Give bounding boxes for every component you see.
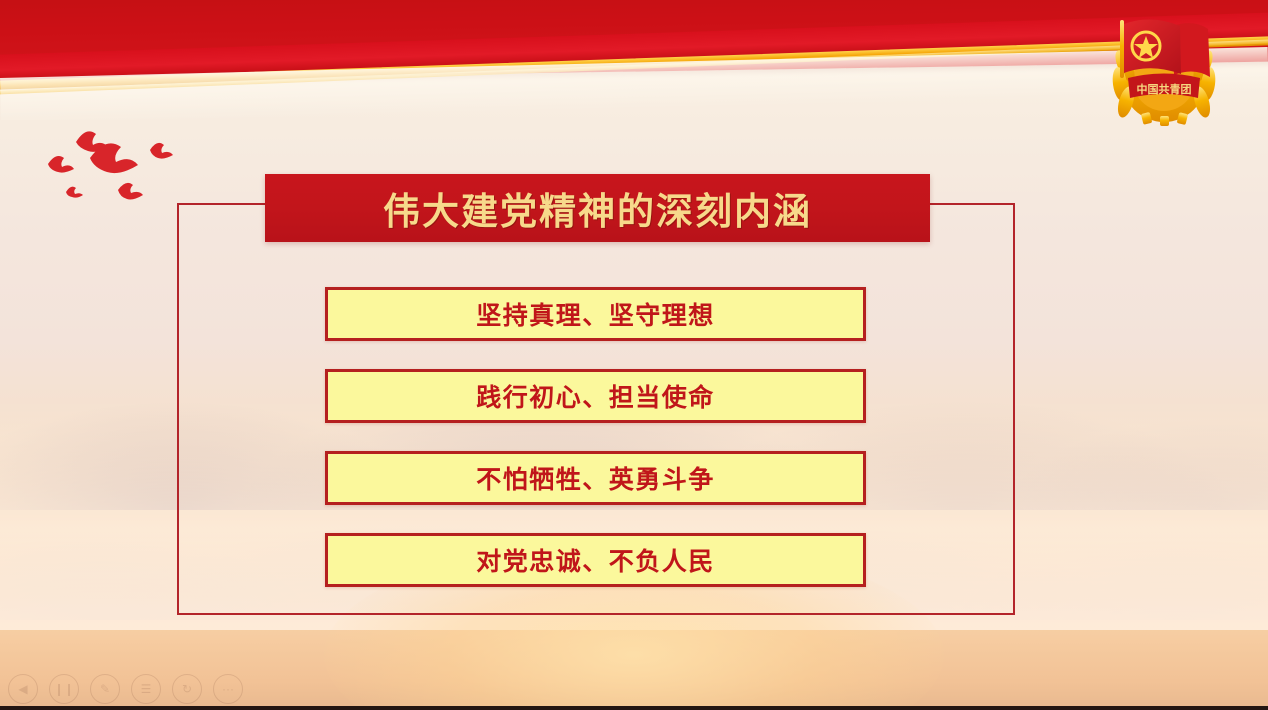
content-item-list: 坚持真理、坚守理想 践行初心、担当使命 不怕牺牲、英勇斗争 对党忠诚、不负人民 (325, 287, 866, 587)
previous-icon[interactable]: ◀ (8, 674, 38, 704)
watermark-player-controls: ◀ ❙❙ ✎ ☰ ↻ ··· (8, 674, 243, 704)
content-item-text: 对党忠诚、不负人民 (476, 542, 715, 578)
content-item-text: 坚持真理、坚守理想 (476, 296, 715, 332)
pen-icon[interactable]: ✎ (90, 674, 120, 704)
content-item-box[interactable]: 对党忠诚、不负人民 (325, 533, 866, 587)
refresh-icon[interactable]: ↻ (172, 674, 202, 704)
menu-icon[interactable]: ☰ (131, 674, 161, 704)
content-item-box[interactable]: 践行初心、担当使命 (325, 369, 866, 423)
pause-icon[interactable]: ❙❙ (49, 674, 79, 704)
communist-youth-league-emblem: 中国共青团 (1098, 6, 1230, 128)
slide-title-banner: 伟大建党精神的深刻内涵 (265, 174, 930, 242)
presentation-slide: 中国共青团 伟大建党精神的深刻内涵 坚持真理、坚守理想 践行初心、担当使命 (0, 0, 1268, 710)
more-icon[interactable]: ··· (213, 674, 243, 704)
bottom-edge (0, 706, 1268, 710)
slide-title-text: 伟大建党精神的深刻内涵 (383, 181, 812, 235)
top-red-ribbon-banner (0, 0, 1268, 120)
content-item-box[interactable]: 不怕牺牲、英勇斗争 (325, 451, 866, 505)
content-item-box[interactable]: 坚持真理、坚守理想 (325, 287, 866, 341)
content-item-text: 不怕牺牲、英勇斗争 (476, 460, 715, 496)
content-item-text: 践行初心、担当使命 (476, 378, 715, 414)
emblem-banner-text: 中国共青团 (1137, 82, 1192, 96)
